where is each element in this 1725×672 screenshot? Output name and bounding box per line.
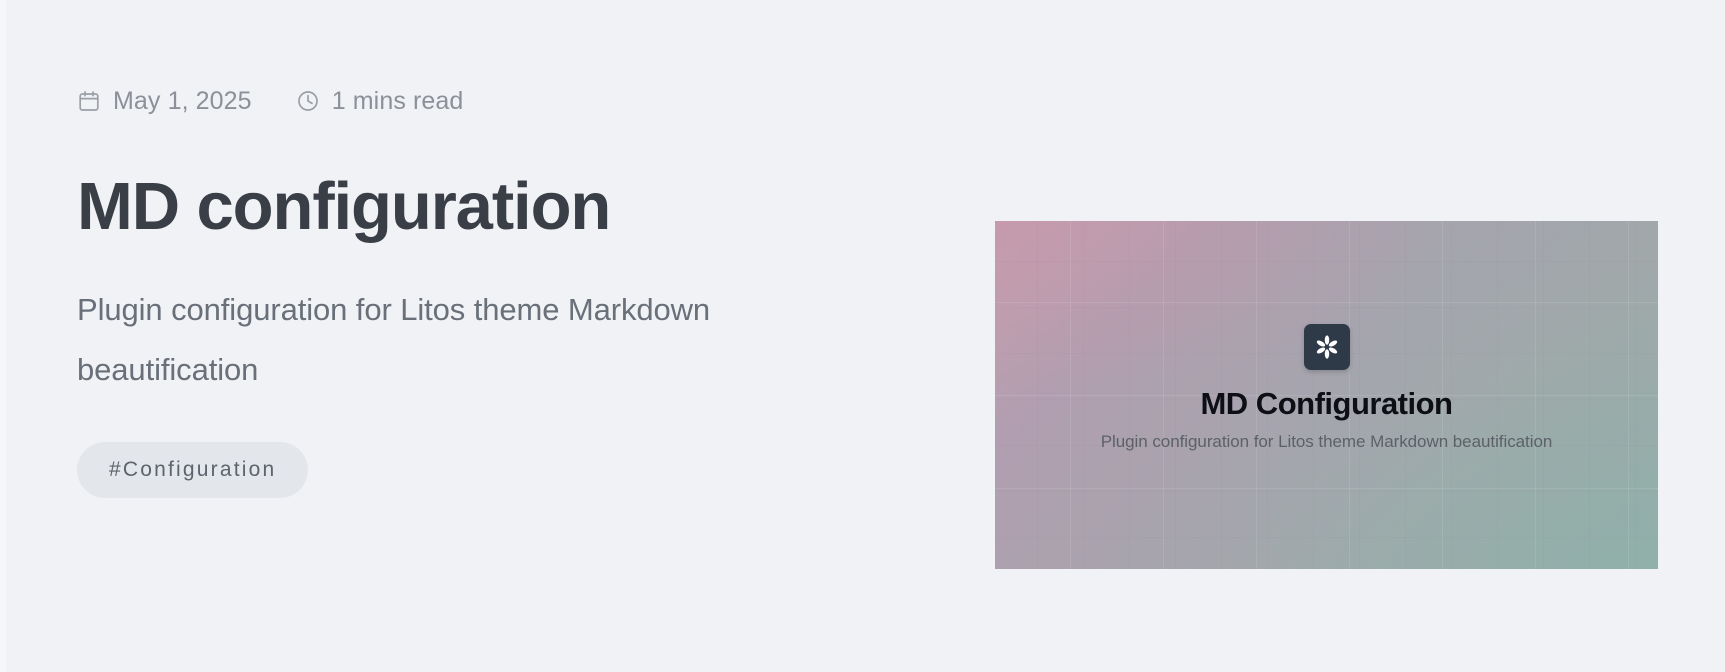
calendar-icon bbox=[77, 89, 101, 113]
publish-date-label: May 1, 2025 bbox=[113, 87, 252, 116]
thumbnail-caption: Plugin configuration for Litos theme Mar… bbox=[1101, 432, 1553, 452]
publish-date: May 1, 2025 bbox=[77, 87, 252, 116]
article-text-column: May 1, 2025 1 mins read MD configuration… bbox=[77, 84, 837, 498]
read-time-label: 1 mins read bbox=[332, 87, 464, 116]
page-subtitle: Plugin configuration for Litos theme Mar… bbox=[77, 280, 737, 401]
clock-icon bbox=[296, 89, 320, 113]
thumbnail-content: MD Configuration Plugin configuration fo… bbox=[995, 221, 1658, 569]
article-meta-row: May 1, 2025 1 mins read bbox=[77, 84, 837, 118]
tag-list: #Configuration bbox=[77, 442, 837, 498]
tag-configuration[interactable]: #Configuration bbox=[77, 442, 308, 498]
page-title: MD configuration bbox=[77, 171, 837, 242]
article-hero: May 1, 2025 1 mins read MD configuration… bbox=[0, 0, 1725, 672]
article-thumbnail[interactable]: MD Configuration Plugin configuration fo… bbox=[995, 221, 1658, 569]
thumbnail-title: MD Configuration bbox=[1200, 387, 1452, 421]
read-time: 1 mins read bbox=[296, 87, 464, 116]
asterisk-flower-icon bbox=[1304, 324, 1350, 370]
